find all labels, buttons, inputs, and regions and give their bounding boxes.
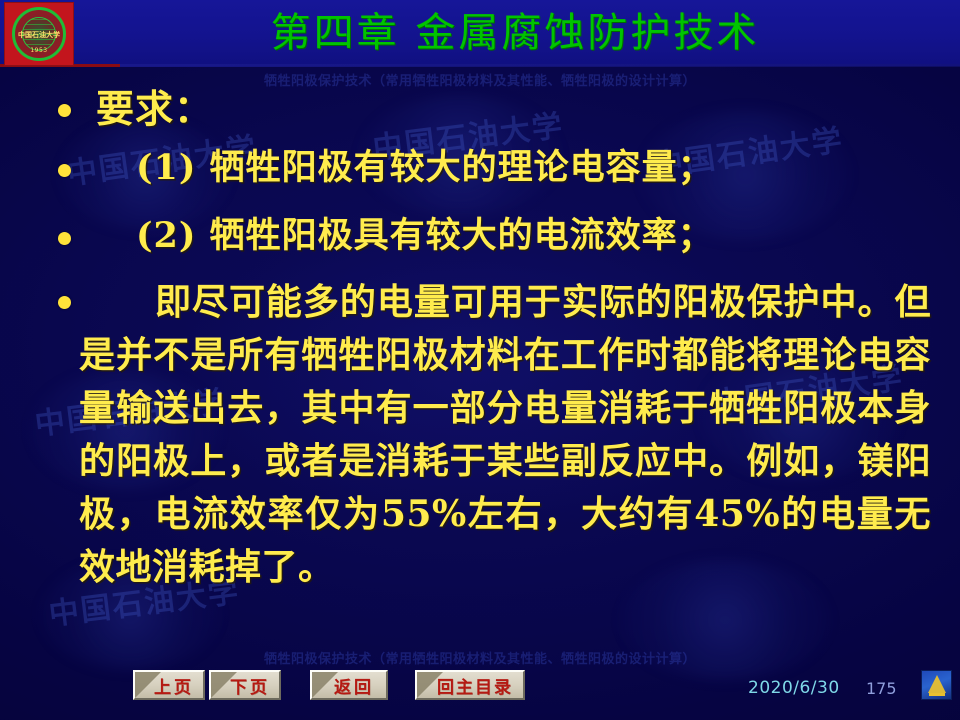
bullet-dot-icon: [58, 232, 71, 245]
university-logo: 中国石油大学 1953: [4, 2, 74, 66]
derrick-shape: [928, 675, 946, 693]
logo-year: 1953: [30, 47, 47, 54]
next-page-button-label: 下页: [211, 672, 279, 698]
logo-ring: 中国石油大学 1953: [12, 7, 66, 61]
main-menu-button[interactable]: 回主目录: [415, 670, 525, 700]
list-item: 要求：: [58, 86, 213, 132]
list-item: (1) 牺牲阳极有较大的理论电容量；: [58, 146, 714, 190]
oil-derrick-icon: [921, 670, 952, 700]
back-button[interactable]: 返回: [310, 670, 388, 700]
list-item: 即尽可能多的电量可用于实际的阳极保护中。但是并不是所有牺牲阳极材料在工作时都能将…: [58, 276, 938, 594]
list-item: (2) 牺牲阳极具有较大的电流效率；: [58, 214, 714, 258]
page-title: 第四章 金属腐蚀防护技术: [0, 0, 960, 66]
logo-chinese-name: 中国石油大学: [18, 30, 60, 40]
slide-body: 要求： (1) 牺牲阳极有较大的理论电容量； (2) 牺牲阳极具有较大的电流效率…: [0, 74, 960, 660]
list-item-label: (2) 牺牲阳极具有较大的电流效率；: [136, 214, 714, 258]
prev-page-button[interactable]: 上页: [133, 670, 205, 700]
bullet-dot-icon: [58, 164, 71, 177]
list-item-label: 要求：: [96, 86, 213, 132]
header-divider: [0, 64, 960, 67]
prev-page-button-label: 上页: [135, 672, 203, 698]
list-item-paragraph: 即尽可能多的电量可用于实际的阳极保护中。但是并不是所有牺牲阳极材料在工作时都能将…: [79, 276, 931, 594]
navigation-bar: 上页 下页 返回 回主目录 2020/6/30 175: [0, 662, 960, 720]
main-menu-button-label: 回主目录: [417, 672, 523, 698]
bullet-dot-icon: [58, 296, 71, 309]
derrick-base: [929, 693, 945, 696]
footer-date: 2020/6/30: [748, 678, 840, 698]
bullet-dot-icon: [58, 104, 71, 117]
slide-canvas: 中国石油大学 中国石油大学 中国石油大学 中国石油大学 中国石油大学 中国石油大…: [0, 0, 960, 720]
next-page-button[interactable]: 下页: [209, 670, 281, 700]
list-item-label: (1) 牺牲阳极有较大的理论电容量；: [136, 146, 714, 190]
footer-page-number: 175: [866, 679, 897, 698]
back-button-label: 返回: [312, 672, 386, 698]
